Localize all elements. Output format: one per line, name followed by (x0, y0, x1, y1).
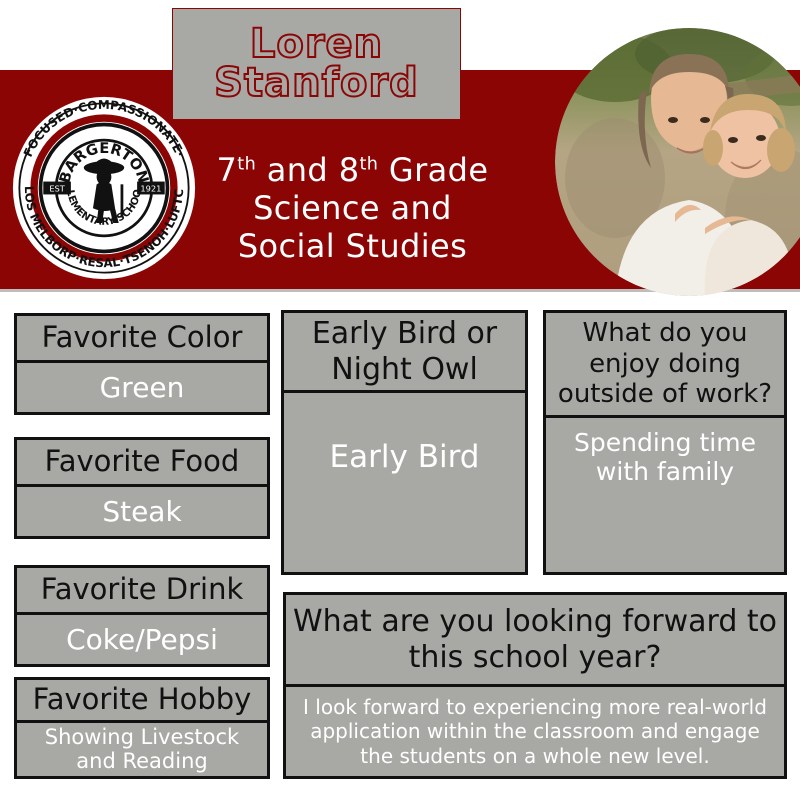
school-seal-logo: EST 1921 BARGERTON ELEMENTARY SCHOOL FOC… (12, 96, 196, 280)
subtitle-grade-word: Grade (378, 151, 488, 189)
card-looking-forward-question: What are you looking forward to this sch… (286, 595, 784, 687)
grade-7-number: 7 (217, 151, 238, 189)
card-favorite-color: Favorite Color Green (14, 313, 270, 415)
card-enjoy-outside-work-question: What do you enjoy doing outside of work? (546, 313, 784, 418)
card-enjoy-outside-work: What do you enjoy doing outside of work?… (543, 310, 787, 575)
card-looking-forward-question-line-2: this school year? (409, 640, 662, 676)
seal-est-label: EST (49, 184, 65, 194)
card-favorite-hobby: Favorite Hobby Showing Livestock and Rea… (14, 677, 270, 779)
card-enjoy-outside-work-answer: Spending time with family (546, 418, 784, 572)
card-enjoy-question-line-3: outside of work? (558, 379, 772, 410)
card-enjoy-question-line-1: What do you (582, 318, 747, 349)
card-early-bird-question-line-2: Night Owl (331, 352, 478, 388)
card-early-bird-question: Early Bird or Night Owl (284, 313, 525, 393)
teacher-last-name: Stanford (214, 64, 419, 103)
subtitle-and: and 8 (256, 151, 359, 189)
card-enjoy-answer-line-1: Spending time (574, 428, 756, 457)
teacher-profile-poster: Loren Stanford 7th and 8th Grade Science… (0, 0, 800, 800)
school-seal-icon: EST 1921 BARGERTON ELEMENTARY SCHOOL FOC… (12, 96, 196, 280)
card-favorite-food-question: Favorite Food (17, 440, 267, 487)
card-favorite-color-question: Favorite Color (17, 316, 267, 363)
card-early-bird-question-line-1: Early Bird or (312, 316, 497, 352)
card-enjoy-answer-line-2: with family (596, 457, 734, 486)
card-favorite-drink-answer: Coke/Pepsi (17, 615, 267, 664)
grade-subject-subtitle: 7th and 8th Grade Science and Social Stu… (180, 152, 525, 265)
teacher-name-plate: Loren Stanford (172, 8, 461, 120)
card-looking-forward: What are you looking forward to this sch… (283, 592, 787, 779)
grade-8-suffix: th (359, 154, 378, 174)
card-early-bird-night-owl: Early Bird or Night Owl Early Bird (281, 310, 528, 575)
card-favorite-hobby-answer: Showing Livestock and Reading (17, 723, 267, 776)
card-looking-forward-answer: I look forward to experiencing more real… (286, 687, 784, 776)
card-favorite-drink-question: Favorite Drink (17, 568, 267, 615)
card-favorite-hobby-question: Favorite Hobby (17, 680, 267, 723)
card-favorite-color-answer: Green (17, 363, 267, 412)
card-enjoy-question-line-2: enjoy doing (589, 349, 741, 380)
subtitle-line-3: Social Studies (180, 228, 525, 266)
card-looking-forward-question-line-1: What are you looking forward to (293, 604, 777, 640)
grade-7-suffix: th (237, 154, 256, 174)
card-favorite-drink: Favorite Drink Coke/Pepsi (14, 565, 270, 667)
subtitle-line-2: Science and (180, 190, 525, 228)
card-favorite-food: Favorite Food Steak (14, 437, 270, 539)
teacher-first-name: Loren (250, 25, 383, 64)
subtitle-line-1: 7th and 8th Grade (180, 152, 525, 190)
card-favorite-food-answer: Steak (17, 487, 267, 536)
card-early-bird-answer: Early Bird (284, 393, 525, 572)
